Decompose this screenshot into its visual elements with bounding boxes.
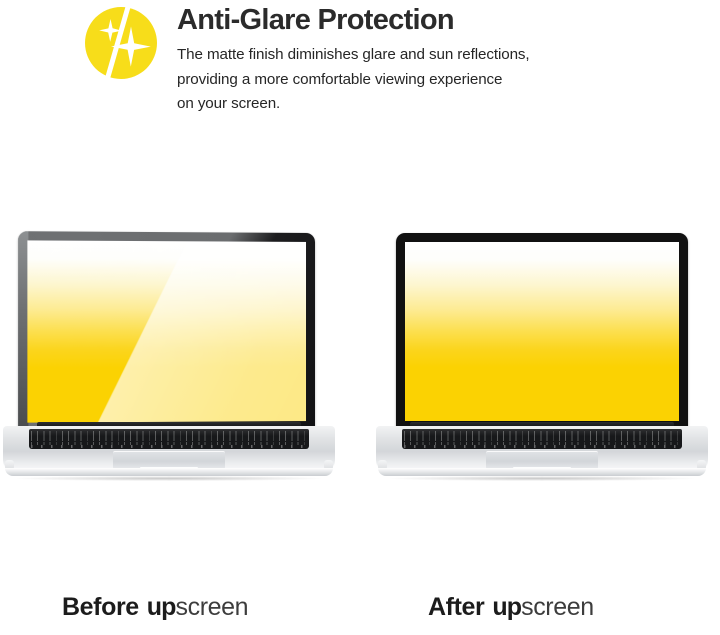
feature-header: Anti-Glare Protection The matte finish d… bbox=[0, 0, 720, 120]
laptop-keyboard bbox=[29, 429, 309, 449]
caption-after-word: After bbox=[428, 593, 484, 621]
brand-screen-left: screen bbox=[176, 593, 249, 621]
laptop-before bbox=[0, 215, 343, 500]
laptop-base-edge bbox=[378, 468, 706, 476]
page-title: Anti-Glare Protection bbox=[177, 0, 697, 37]
comparison-captions: Beforeupscreen Afterupscreen bbox=[0, 590, 720, 635]
laptop-before-base bbox=[3, 426, 335, 480]
brand-screen-right: screen bbox=[521, 593, 594, 621]
caption-before-word: Before bbox=[62, 593, 139, 621]
feature-header-text: Anti-Glare Protection The matte finish d… bbox=[177, 0, 697, 117]
laptop-before-screen bbox=[27, 240, 306, 422]
feature-description: The matte finish diminishes glare and su… bbox=[177, 37, 697, 117]
laptop-base-edge bbox=[5, 468, 333, 476]
brand-up-left: up bbox=[147, 593, 176, 621]
caption-before: Beforeupscreen bbox=[62, 590, 248, 624]
laptop-after-screen bbox=[405, 242, 679, 421]
screen-gradient bbox=[405, 242, 679, 421]
laptop-before-lid bbox=[18, 231, 315, 430]
laptop-after-lid bbox=[396, 233, 688, 428]
anti-glare-sparkle-icon bbox=[84, 6, 158, 80]
laptop-after-base bbox=[376, 426, 708, 480]
brand-up-right: up bbox=[492, 593, 521, 621]
laptop-keyboard bbox=[402, 429, 682, 449]
laptop-chassis bbox=[376, 426, 708, 472]
comparison-stage bbox=[0, 215, 720, 505]
glare-highlight bbox=[27, 240, 306, 422]
laptop-after bbox=[368, 215, 716, 500]
laptop-chassis bbox=[3, 426, 335, 472]
caption-after: Afterupscreen bbox=[428, 590, 594, 624]
laptop-shadow bbox=[17, 476, 321, 481]
laptop-shadow bbox=[390, 476, 694, 481]
